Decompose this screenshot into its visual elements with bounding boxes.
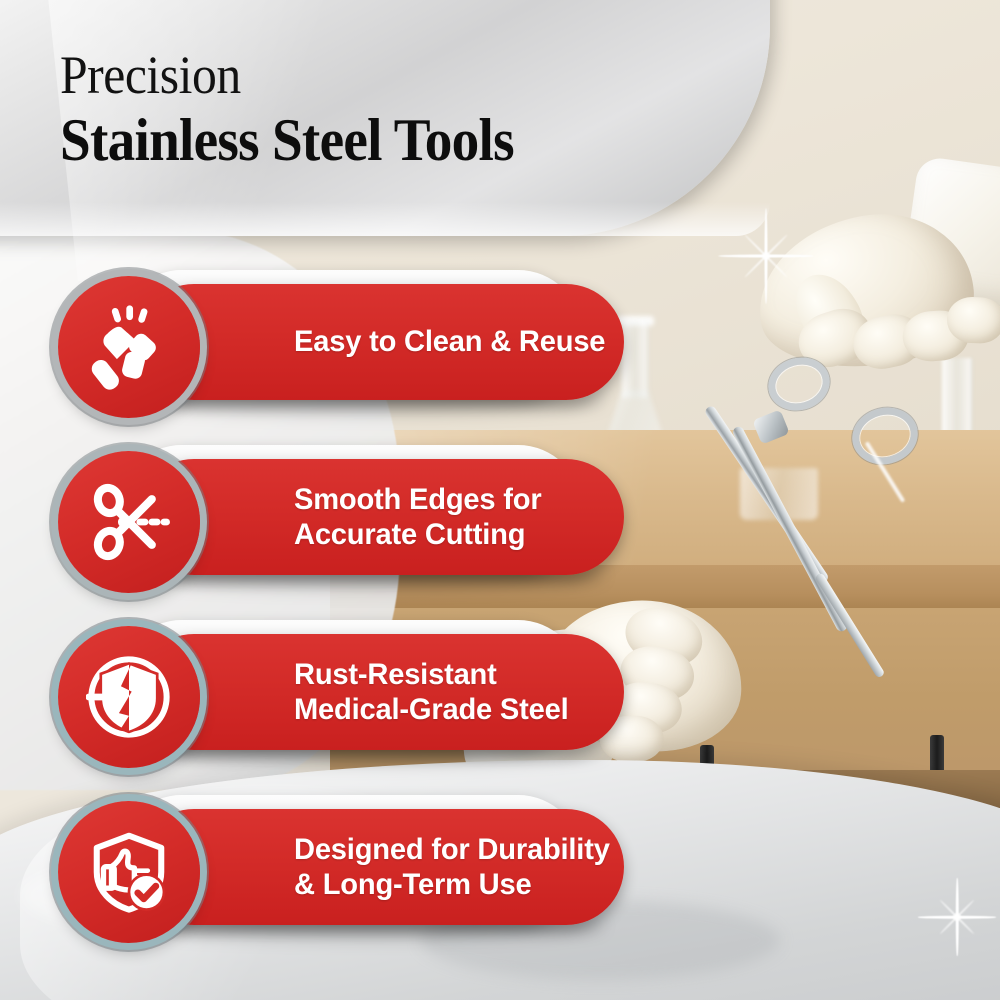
feature-label-line1: Easy to Clean & Reuse — [294, 324, 605, 359]
feature-pill[interactable]: Easy to Clean & Reuse — [136, 284, 624, 400]
feature-item[interactable]: Easy to Clean & Reuse — [58, 268, 588, 418]
feature-pill[interactable]: Smooth Edges for Accurate Cutting — [136, 459, 624, 575]
feature-pill[interactable]: Designed for Durability & Long-Term Use — [136, 809, 624, 925]
scissors-cut-icon — [58, 451, 200, 593]
cleaning-sparkle-icon — [58, 276, 200, 418]
feature-label-line1: Rust-Resistant — [294, 657, 568, 692]
feature-item[interactable]: Rust-Resistant Medical-Grade Steel — [58, 618, 588, 768]
feature-label: Rust-Resistant Medical-Grade Steel — [294, 657, 568, 728]
feature-item[interactable]: Smooth Edges for Accurate Cutting — [58, 443, 588, 593]
feature-label-line1: Designed for Durability — [294, 832, 610, 867]
feature-label-line2: Accurate Cutting — [294, 517, 541, 552]
shield-thumbsup-check-icon — [58, 801, 200, 943]
shield-impact-icon — [58, 626, 200, 768]
feature-label: Smooth Edges for Accurate Cutting — [294, 482, 541, 553]
feature-label-line2: Medical-Grade Steel — [294, 692, 568, 727]
feature-label: Easy to Clean & Reuse — [294, 324, 605, 359]
feature-pill[interactable]: Rust-Resistant Medical-Grade Steel — [136, 634, 624, 750]
feature-label-line1: Smooth Edges for — [294, 482, 541, 517]
feature-label: Designed for Durability & Long-Term Use — [294, 832, 610, 903]
feature-list: Easy to Clean & Reuse Smooth Edges for A… — [0, 0, 1000, 1000]
feature-label-line2: & Long-Term Use — [294, 867, 610, 902]
feature-item[interactable]: Designed for Durability & Long-Term Use — [58, 793, 588, 943]
